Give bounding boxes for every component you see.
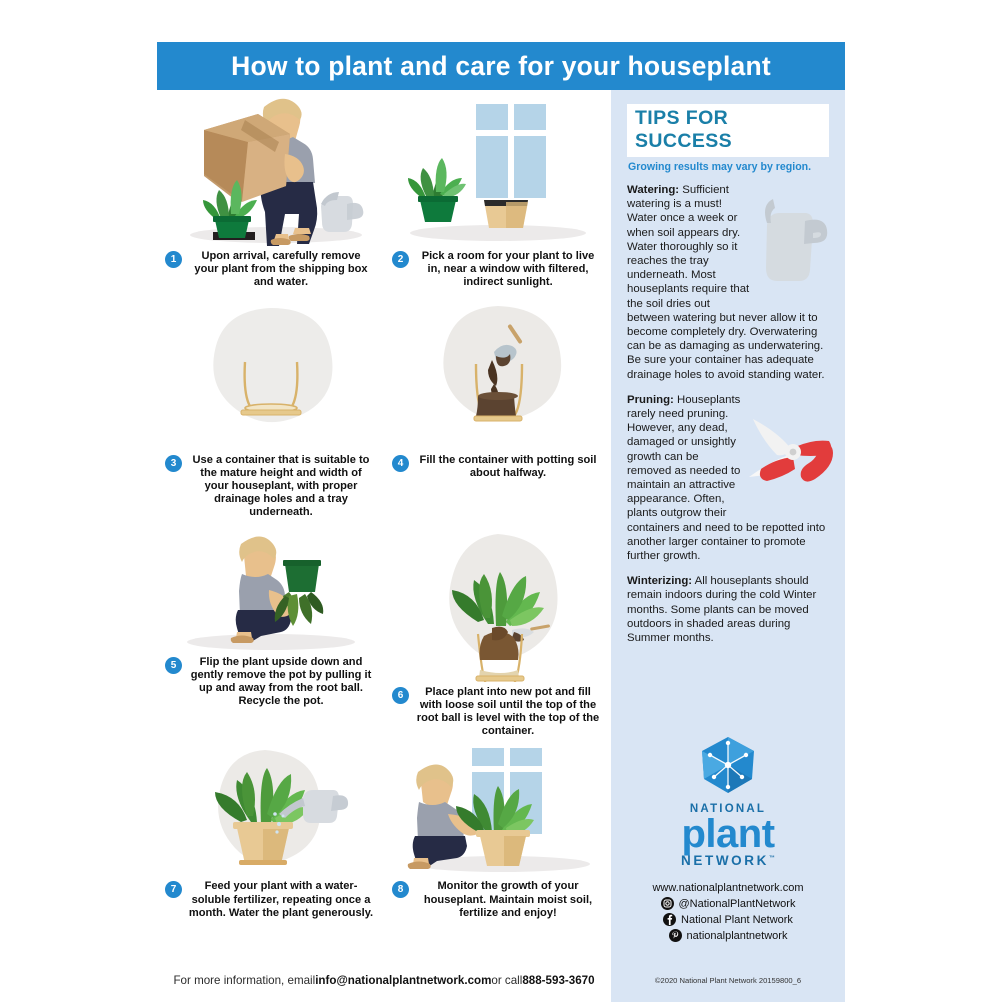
poster: How to plant and care for your houseplan… xyxy=(157,42,845,958)
logo-network-word: NETWORK xyxy=(681,853,769,868)
step-8-illustration xyxy=(392,748,603,876)
tip-pruning: Pruning: Houseplants rarely need pruning… xyxy=(627,393,829,563)
step-number-badge: 2 xyxy=(392,251,409,268)
step-1-caption: 1 Upon arrival, carefully remove your pl… xyxy=(165,250,376,290)
tips-sidebar: TIPS FOR SUCCESS Growing results may var… xyxy=(611,90,845,958)
tips-subtitle: Growing results may vary by region. xyxy=(628,161,829,173)
step-3-caption: 3 Use a container that is suitable to th… xyxy=(165,454,376,520)
page-title: How to plant and care for your houseplan… xyxy=(231,51,771,82)
step-4: 4 Fill the container with potting soil a… xyxy=(384,296,611,526)
logo-tm: ™ xyxy=(769,856,775,862)
step-2: 2 Pick a room for your plant to live in,… xyxy=(384,90,611,296)
step-number-badge: 1 xyxy=(165,251,182,268)
step-caption-text: Place plant into new pot and fill with l… xyxy=(409,686,603,739)
footer-lead: For more information, email xyxy=(173,974,315,987)
social-pinterest[interactable]: nationalplantnetwork xyxy=(611,929,845,942)
step-5: 5 Flip the plant upside down and gently … xyxy=(157,526,384,745)
watering-can-icon xyxy=(755,191,829,303)
footer-email[interactable]: info@nationalplantnetwork.com xyxy=(315,974,491,987)
step-caption-text: Feed your plant with a water-soluble fer… xyxy=(182,880,376,920)
woman-carrying-box-icon xyxy=(171,94,371,246)
step-4-illustration xyxy=(392,300,603,450)
step-caption-text: Fill the container with potting soil abo… xyxy=(409,454,603,480)
step-caption-text: Upon arrival, carefully remove your plan… xyxy=(182,250,376,290)
woman-tending-plant-icon xyxy=(398,748,598,876)
step-2-caption: 2 Pick a room for your plant to live in,… xyxy=(392,250,603,290)
woman-removing-pot-icon xyxy=(181,530,361,652)
tip-winterizing: Winterizing: All houseplants should rema… xyxy=(627,574,829,645)
step-number-badge: 7 xyxy=(165,881,182,898)
body-split: 1 Upon arrival, carefully remove your pl… xyxy=(157,90,845,958)
tip-watering: Watering: Sufficient watering is a must!… xyxy=(627,183,829,382)
step-1: 1 Upon arrival, carefully remove your pl… xyxy=(157,90,384,296)
facebook-icon xyxy=(663,913,676,926)
facebook-handle: National Plant Network xyxy=(681,914,793,926)
step-number-badge: 3 xyxy=(165,455,182,472)
step-4-caption: 4 Fill the container with potting soil a… xyxy=(392,454,603,480)
step-7-caption: 7 Feed your plant with a water-soluble f… xyxy=(165,880,376,920)
header-banner: How to plant and care for your houseplan… xyxy=(157,42,845,90)
step-number-badge: 5 xyxy=(165,657,182,674)
steps-column: 1 Upon arrival, carefully remove your pl… xyxy=(157,90,611,958)
footer-phone[interactable]: 888-593-3670 xyxy=(522,974,594,987)
step-8: 8 Monitor the growth of your houseplant.… xyxy=(384,744,611,926)
step-5-caption: 5 Flip the plant upside down and gently … xyxy=(165,656,376,709)
steps-grid: 1 Upon arrival, carefully remove your pl… xyxy=(157,90,611,926)
window-with-plants-icon xyxy=(398,94,598,246)
social-instagram[interactable]: @NationalPlantNetwork xyxy=(611,897,845,910)
step-number-badge: 8 xyxy=(392,881,409,898)
instagram-icon xyxy=(661,897,674,910)
step-number-badge: 6 xyxy=(392,687,409,704)
footer-contact: For more information, email info@nationa… xyxy=(157,958,611,1002)
pinterest-icon xyxy=(669,929,682,942)
footer-copyright: ©2020 National Plant Network 20159800_6 xyxy=(611,958,845,1002)
tips-title-band: TIPS FOR SUCCESS xyxy=(627,104,829,157)
step-2-illustration xyxy=(392,94,603,246)
watering-potted-plant-icon xyxy=(181,748,361,876)
step-3: 3 Use a container that is suitable to th… xyxy=(157,296,384,526)
step-1-illustration xyxy=(165,94,376,246)
website-link[interactable]: www.nationalplantnetwork.com xyxy=(611,882,845,894)
step-6-illustration xyxy=(392,530,603,682)
step-caption-text: Use a container that is suitable to the … xyxy=(182,454,376,520)
logo-plant-text: plant xyxy=(611,815,845,853)
trowel-pouring-soil-icon xyxy=(410,300,585,450)
step-caption-text: Pick a room for your plant to live in, n… xyxy=(409,250,603,290)
plant-root-ball-in-pot-icon xyxy=(408,530,588,682)
empty-container-icon xyxy=(183,300,358,450)
step-6: 6 Place plant into new pot and fill with… xyxy=(384,526,611,745)
step-5-illustration xyxy=(165,530,376,652)
step-7-illustration xyxy=(165,748,376,876)
pinterest-handle: nationalplantnetwork xyxy=(687,930,788,942)
step-number-badge: 4 xyxy=(392,455,409,472)
instagram-handle: @NationalPlantNetwork xyxy=(679,898,796,910)
footer-mid: or call xyxy=(491,974,522,987)
social-facebook[interactable]: National Plant Network xyxy=(611,913,845,926)
tip-heading: Pruning: xyxy=(627,394,674,406)
tip-heading: Winterizing: xyxy=(627,575,692,587)
logo-network-text: NETWORK™ xyxy=(611,853,845,868)
brand-logo-area: NATIONAL plant NETWORK™ www.nationalplan… xyxy=(611,735,845,942)
footer: For more information, email info@nationa… xyxy=(157,958,845,1002)
step-6-caption: 6 Place plant into new pot and fill with… xyxy=(392,686,603,739)
step-7: 7 Feed your plant with a water-soluble f… xyxy=(157,744,384,926)
step-caption-text: Flip the plant upside down and gently re… xyxy=(182,656,376,709)
tips-title: TIPS FOR SUCCESS xyxy=(635,107,821,153)
network-gem-logo-icon xyxy=(694,735,762,797)
tip-winterizing-text: Winterizing: All houseplants should rema… xyxy=(627,574,829,645)
pruning-shears-icon xyxy=(747,413,835,509)
step-8-caption: 8 Monitor the growth of your houseplant.… xyxy=(392,880,603,920)
step-caption-text: Monitor the growth of your houseplant. M… xyxy=(409,880,603,920)
step-3-illustration xyxy=(165,300,376,450)
tip-heading: Watering: xyxy=(627,184,679,196)
